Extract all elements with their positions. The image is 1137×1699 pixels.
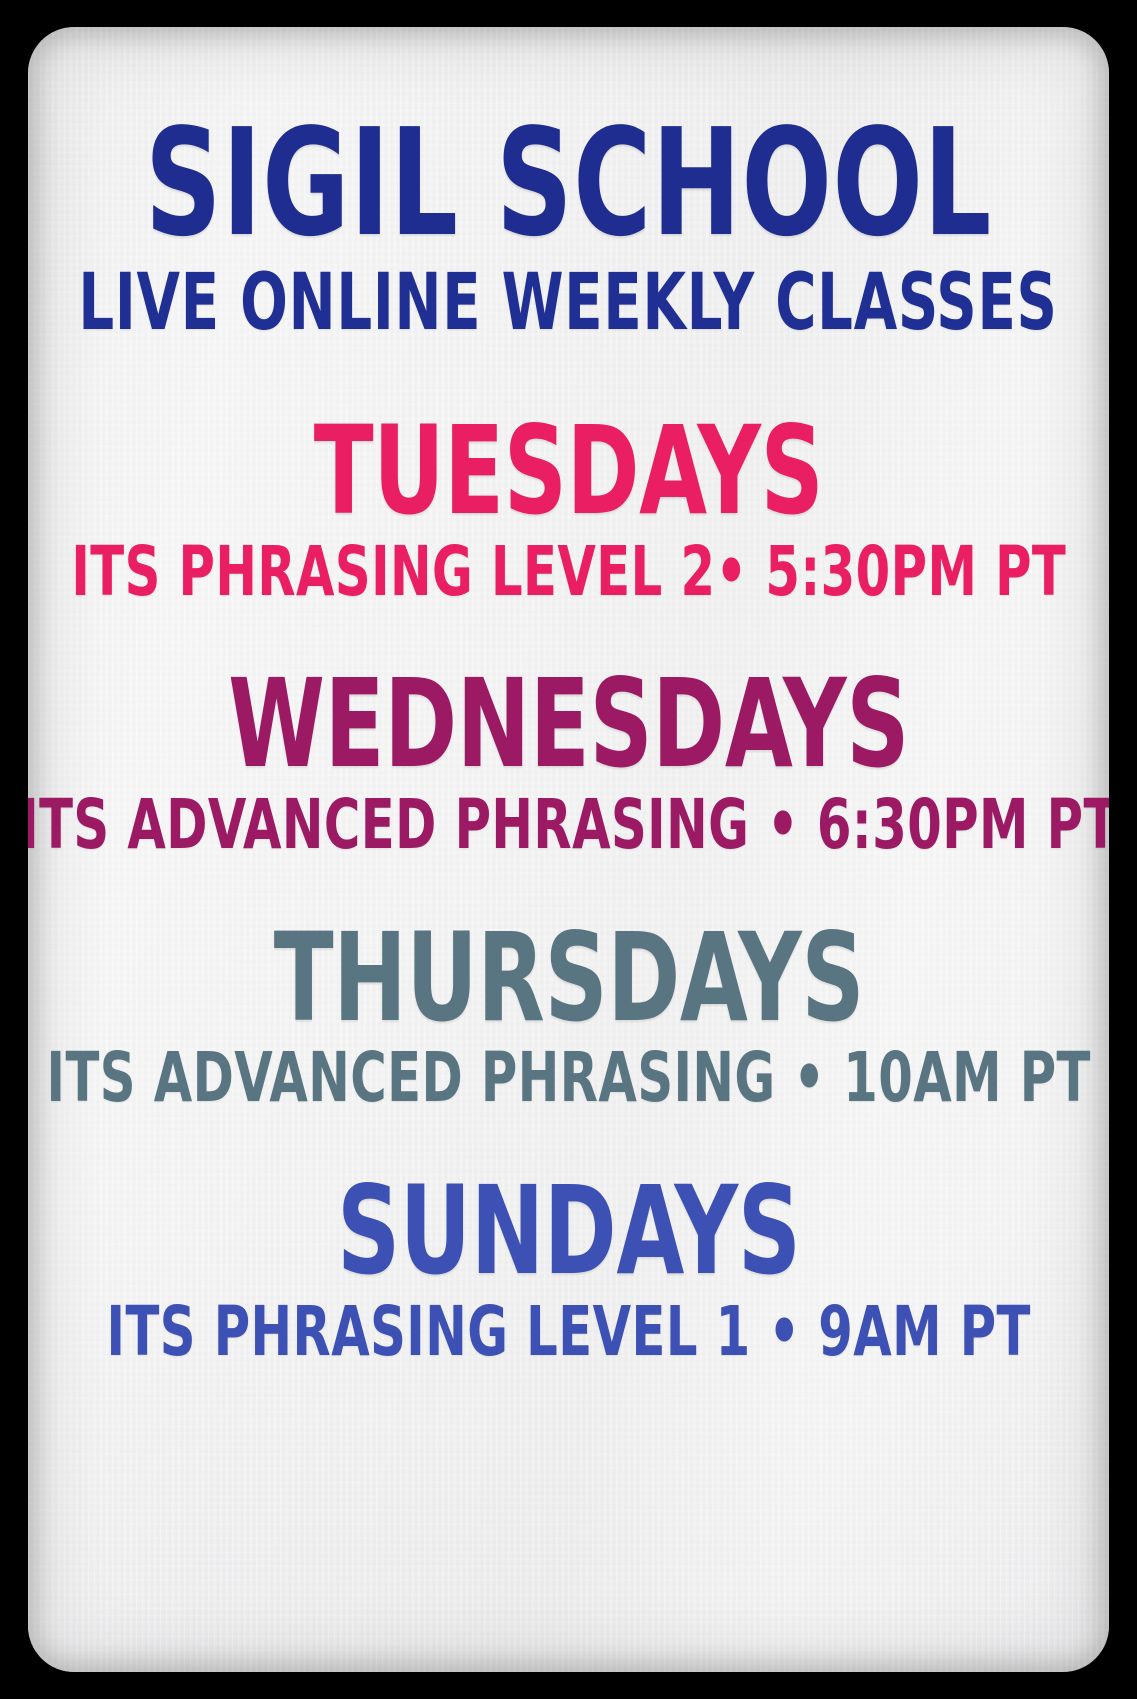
schedule-entry-wednesdays: WEDNESDAYS ITS ADVANCED PHRASING • 6:30P… [72, 667, 1065, 858]
poster-card: SIGIL SCHOOL LIVE ONLINE WEEKLY CLASSES … [28, 27, 1109, 1672]
schedule-day-label: TUESDAYS [314, 414, 824, 530]
schedule-entry-thursdays: THURSDAYS ITS ADVANCED PHRASING • 10AM P… [72, 921, 1065, 1112]
schedule-day-label: SUNDAYS [337, 1174, 801, 1290]
schedule-list: TUESDAYS ITS PHRASING LEVEL 2• 5:30PM PT… [72, 414, 1065, 1366]
schedule-entry-sundays: SUNDAYS ITS PHRASING LEVEL 1 • 9AM PT [72, 1174, 1065, 1365]
schedule-detail-label: ITS PHRASING LEVEL 1 • 9AM PT [106, 1300, 1030, 1366]
schedule-entry-tuesdays: TUESDAYS ITS PHRASING LEVEL 2• 5:30PM PT [72, 414, 1065, 605]
schedule-detail-label: ITS PHRASING LEVEL 2• 5:30PM PT [71, 540, 1066, 606]
poster-content: SIGIL SCHOOL LIVE ONLINE WEEKLY CLASSES … [28, 27, 1109, 1672]
schedule-day-label: THURSDAYS [273, 921, 863, 1037]
schedule-day-label: WEDNESDAYS [228, 667, 909, 783]
page-title: SIGIL SCHOOL [145, 113, 992, 254]
schedule-detail-label: ITS ADVANCED PHRASING • 10AM PT [46, 1046, 1090, 1112]
page-subtitle: LIVE ONLINE WEEKLY CLASSES [79, 266, 1058, 340]
schedule-detail-label: ITS ADVANCED PHRASING • 6:30PM PT [28, 793, 1109, 859]
